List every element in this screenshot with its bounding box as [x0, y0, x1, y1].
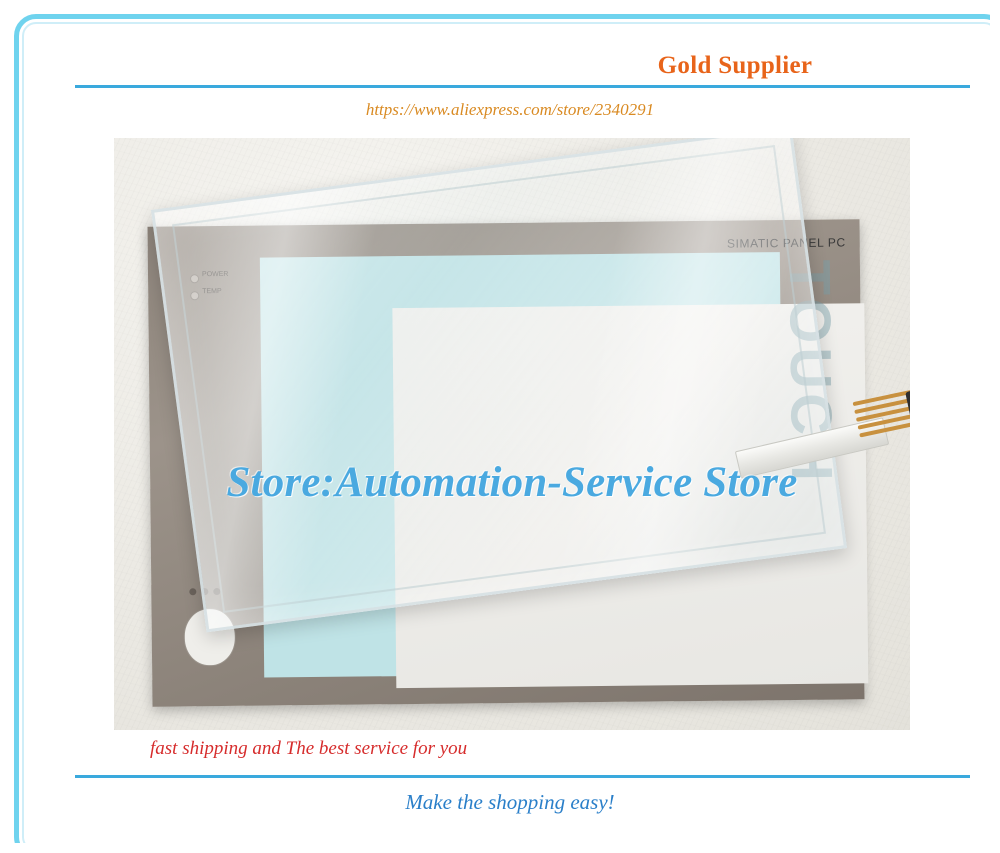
footer-divider: [75, 775, 970, 778]
store-tagline-text: Make the shopping easy!: [210, 790, 810, 815]
listing-content: Gold Supplier https://www.aliexpress.com…: [30, 28, 990, 845]
shipping-promise-text: fast shipping and The best service for y…: [150, 738, 467, 760]
gold-supplier-badge: Gold Supplier: [520, 52, 950, 80]
product-listing-image: Gold Supplier https://www.aliexpress.com…: [0, 0, 1000, 853]
store-url-text: https://www.aliexpress.com/store/2340291: [210, 100, 810, 120]
header-divider: [75, 85, 970, 88]
glass-reflection: [154, 138, 843, 629]
touch-glass-digitizer: [151, 138, 847, 632]
store-watermark: Store:Automation-Service Store: [114, 458, 910, 507]
product-photo: SIMATIC PANEL PC TOUCH POWER TEMP: [114, 138, 910, 730]
